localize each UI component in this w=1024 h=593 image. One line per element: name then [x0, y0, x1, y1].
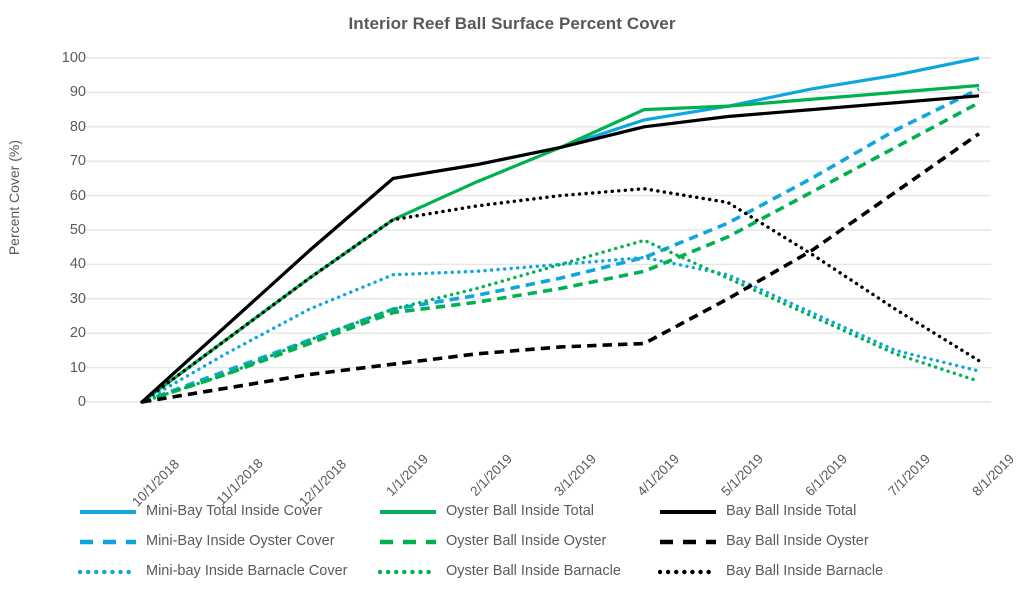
chart-legend: Mini-Bay Total Inside CoverOyster Ball I… — [78, 496, 1008, 588]
legend-swatch-icon — [658, 565, 718, 577]
x-axis-tick-label: 1/1/2019 — [383, 451, 431, 499]
legend-swatch-icon — [78, 565, 138, 577]
legend-label: Oyster Ball Inside Oyster — [446, 533, 606, 549]
legend-swatch-icon — [658, 505, 718, 517]
legend-item[interactable]: Bay Ball Inside Barnacle — [658, 563, 988, 579]
x-axis-tick-label: 2/1/2019 — [467, 451, 515, 499]
legend-item[interactable]: Bay Ball Inside Oyster — [658, 533, 988, 549]
legend-item[interactable]: Oyster Ball Inside Barnacle — [378, 563, 658, 579]
legend-label: Oyster Ball Inside Total — [446, 503, 594, 519]
y-axis-tick-label: 20 — [44, 325, 86, 341]
legend-label: Mini-bay Inside Barnacle Cover — [146, 563, 347, 579]
y-axis-tick-label: 70 — [44, 153, 86, 169]
y-axis-tick-label: 30 — [44, 291, 86, 307]
chart-container: Interior Reef Ball Surface Percent Cover… — [0, 0, 1024, 593]
x-axis-tick-label: 5/1/2019 — [718, 451, 766, 499]
legend-item[interactable]: Oyster Ball Inside Total — [378, 503, 658, 519]
y-axis-tick-label: 10 — [44, 360, 86, 376]
series-line-6 — [142, 96, 979, 402]
legend-item[interactable]: Bay Ball Inside Total — [658, 503, 988, 519]
legend-swatch-icon — [78, 535, 138, 547]
y-axis-ticks: 1009080706050403020100 — [38, 0, 86, 410]
series-line-7 — [142, 134, 979, 402]
x-axis-tick-label: 4/1/2019 — [634, 451, 682, 499]
legend-label: Bay Ball Inside Total — [726, 503, 856, 519]
legend-swatch-icon — [378, 535, 438, 547]
y-axis-tick-label: 60 — [44, 188, 86, 204]
legend-label: Mini-Bay Inside Oyster Cover — [146, 533, 335, 549]
legend-swatch-icon — [378, 565, 438, 577]
legend-item[interactable]: Mini-Bay Total Inside Cover — [78, 503, 378, 519]
x-axis-tick-label: 7/1/2019 — [886, 451, 934, 499]
x-axis-tick-label: 8/1/2019 — [969, 451, 1017, 499]
plot-area: 1009080706050403020100 — [0, 0, 1024, 410]
legend-label: Bay Ball Inside Oyster — [726, 533, 869, 549]
legend-item[interactable]: Oyster Ball Inside Oyster — [378, 533, 658, 549]
legend-label: Bay Ball Inside Barnacle — [726, 563, 883, 579]
y-axis-tick-label: 80 — [44, 119, 86, 135]
plot-svg — [0, 0, 1024, 410]
y-axis-tick-label: 100 — [44, 50, 86, 66]
y-axis-tick-label: 40 — [44, 256, 86, 272]
legend-swatch-icon — [78, 505, 138, 517]
x-axis-ticks: 10/1/201811/1/201812/1/20181/1/20192/1/2… — [0, 408, 1024, 488]
x-axis-tick-label: 6/1/2019 — [802, 451, 850, 499]
series-line-3 — [142, 86, 979, 402]
y-axis-tick-label: 90 — [44, 84, 86, 100]
x-axis-tick-label: 3/1/2019 — [551, 451, 599, 499]
legend-swatch-icon — [378, 505, 438, 517]
legend-label: Mini-Bay Total Inside Cover — [146, 503, 322, 519]
series-line-1 — [142, 89, 979, 402]
legend-label: Oyster Ball Inside Barnacle — [446, 563, 621, 579]
legend-item[interactable]: Mini-Bay Inside Oyster Cover — [78, 533, 378, 549]
y-axis-tick-label: 50 — [44, 222, 86, 238]
legend-item[interactable]: Mini-bay Inside Barnacle Cover — [78, 563, 378, 579]
legend-swatch-icon — [658, 535, 718, 547]
